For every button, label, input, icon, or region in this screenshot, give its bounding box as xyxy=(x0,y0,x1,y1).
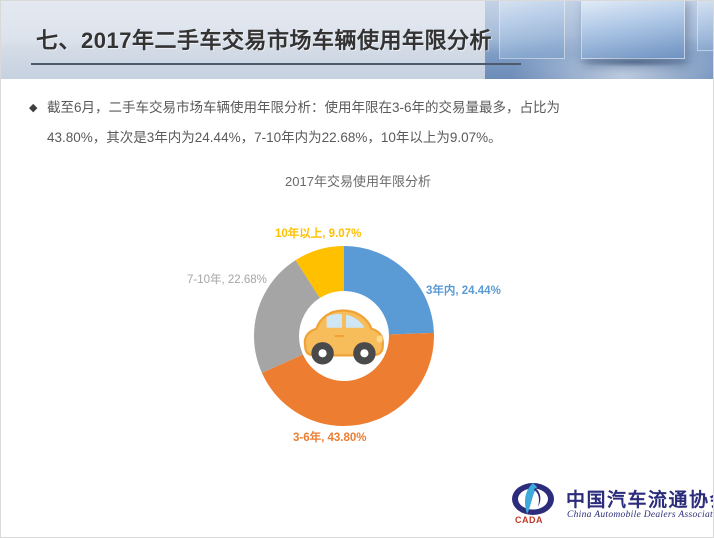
diamond-bullet-icon: ◆ xyxy=(29,93,47,123)
body-text-line-2: 43.80%，其次是3年内为24.44%，7-10年内为22.68%，10年以上… xyxy=(47,123,502,153)
slide-canvas: 七、2017年二手车交易市场车辆使用年限分析 ◆ 截至6月，二手车交易市场车辆使… xyxy=(0,0,714,538)
body-paragraph-line-1: ◆ 截至6月，二手车交易市场车辆使用年限分析：使用年限在3-6年的交易量最多，占… xyxy=(29,93,689,123)
slide-header: 七、2017年二手车交易市场车辆使用年限分析 xyxy=(1,1,714,79)
donut-svg xyxy=(254,246,434,426)
data-label-3-6nian: 3-6年, 43.80% xyxy=(293,429,367,445)
body-paragraph-line-2: 43.80%，其次是3年内为24.44%，7-10年内为22.68%，10年以上… xyxy=(29,123,689,153)
car-icon xyxy=(305,310,383,364)
header-decoration-cubes xyxy=(485,1,714,79)
donut-graphic xyxy=(254,246,434,426)
cada-logo: CADA 中国汽车流通协会 China Automobile Dealers A… xyxy=(511,479,701,531)
decorative-cube-right xyxy=(697,1,714,51)
cada-abbreviation: CADA xyxy=(515,515,543,525)
decorative-cube-center xyxy=(581,1,685,59)
data-label-10nian-yishang: 10年以上, 9.07% xyxy=(275,225,361,241)
org-name-cn: 中国汽车流通协会 xyxy=(566,485,714,512)
chart-title: 2017年交易使用年限分析 xyxy=(1,171,714,190)
body-text-line-1: 截至6月，二手车交易市场车辆使用年限分析：使用年限在3-6年的交易量最多，占比为 xyxy=(47,93,560,123)
cube-shadow xyxy=(575,57,695,67)
title-underline xyxy=(31,63,521,65)
body-text-block: ◆ 截至6月，二手车交易市场车辆使用年限分析：使用年限在3-6年的交易量最多，占… xyxy=(29,93,689,153)
decorative-cube-left xyxy=(499,1,565,59)
donut-chart: 2017年交易使用年限分析 xyxy=(1,161,714,461)
data-label-3nian-nei: 3年内, 24.44% xyxy=(426,282,501,298)
org-name-en: China Automobile Dealers Association xyxy=(567,510,714,520)
page-title: 七、2017年二手车交易市场车辆使用年限分析 xyxy=(36,23,492,55)
data-label-7-10nian: 7-10年, 22.68% xyxy=(187,271,267,287)
